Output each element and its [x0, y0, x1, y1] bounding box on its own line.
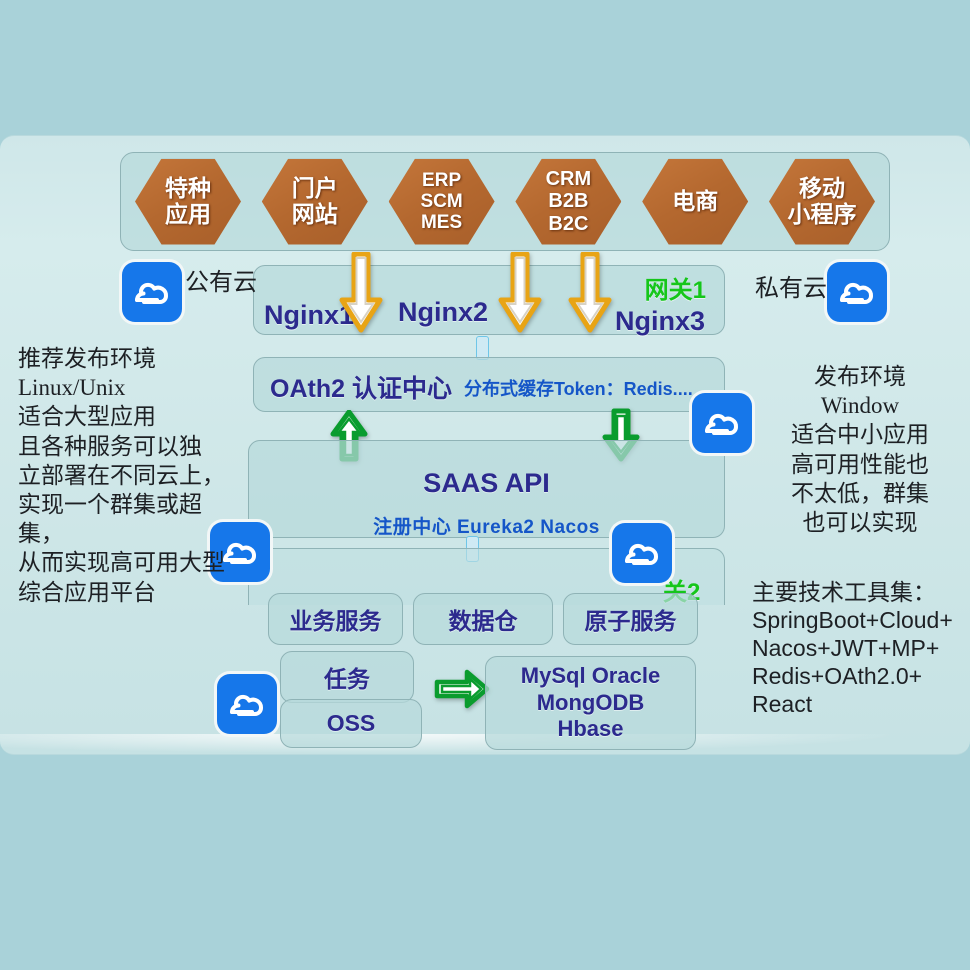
service-label: 数据仓	[449, 602, 518, 636]
nginx2-label: Nginx2	[398, 297, 488, 328]
app-hex-erp[interactable]: ERP SCM MES	[389, 159, 495, 245]
service-label: 原子服务	[585, 602, 677, 636]
app-hex-label: 电商	[672, 189, 718, 215]
auth-title: OAth2 认证中心	[270, 369, 452, 405]
oss-label: OSS	[327, 710, 376, 737]
cloud-icon-saas-right[interactable]	[612, 523, 672, 583]
cloud-icon	[621, 537, 663, 569]
service-box-datawarehouse[interactable]: 数据仓	[413, 593, 553, 645]
app-hex-label: CRM B2B B2C	[546, 168, 592, 235]
app-hex-ecommerce[interactable]: 电商	[642, 159, 748, 245]
note-left: 推荐发布环境 Linux/Unix 适合大型应用 且各种服务可以独 立部署在不同…	[18, 344, 238, 607]
cloud-icon-auth[interactable]	[692, 393, 752, 453]
service-box-business[interactable]: 业务服务	[268, 593, 403, 645]
gateway1-tag: 网关1	[645, 270, 706, 305]
arrow-down-gold-1	[339, 252, 383, 334]
saas-title: SAAS API	[249, 468, 724, 499]
arrow-right-green	[434, 668, 490, 710]
public-cloud-label: 公有云	[185, 262, 257, 297]
cloud-icon	[701, 407, 743, 439]
service-box-atomic[interactable]: 原子服务	[563, 593, 698, 645]
app-hex-label: 特种 应用	[165, 176, 211, 228]
cloud-icon-storage[interactable]	[217, 674, 277, 734]
auth-card: OAth2 认证中心 分布式缓存Token：Redis....	[253, 357, 725, 412]
note-right: 发布环境 Window 适合中小应用 高可用性能也 不太低，群集 也可以实现	[760, 362, 960, 537]
arrow-down-gold-2	[498, 252, 542, 334]
app-hex-label: ERP SCM MES	[420, 170, 462, 234]
cloud-icon-public[interactable]	[122, 262, 182, 322]
task-label: 任务	[324, 660, 370, 694]
oss-box[interactable]: OSS	[280, 699, 422, 748]
application-band: 特种 应用 门户 网站 ERP SCM MES CRM B2B B2C 电商 移…	[120, 152, 890, 251]
database-box[interactable]: MySql Oracle MongODB Hbase	[485, 656, 696, 750]
cloud-icon-private[interactable]	[827, 262, 887, 322]
service-label: 业务服务	[290, 602, 382, 636]
cloud-icon	[226, 688, 268, 720]
auth-subtitle: 分布式缓存Token：Redis....	[464, 375, 693, 401]
app-hex-special[interactable]: 特种 应用	[135, 159, 241, 245]
task-box[interactable]: 任务	[280, 651, 414, 703]
cloud-icon	[836, 276, 878, 308]
database-label: MySql Oracle MongODB Hbase	[521, 663, 660, 742]
gateway1-card: Nginx1 Nginx2 Nginx3 网关1	[253, 265, 725, 335]
diagram-canvas: 特种 应用 门户 网站 ERP SCM MES CRM B2B B2C 电商 移…	[0, 0, 970, 970]
app-hex-label: 移动 小程序	[787, 176, 856, 228]
app-hex-mobile[interactable]: 移动 小程序	[769, 159, 875, 245]
app-hex-label: 门户 网站	[292, 176, 338, 228]
cloud-icon	[131, 276, 173, 308]
private-cloud-label: 私有云	[755, 268, 827, 303]
app-hex-portal[interactable]: 门户 网站	[262, 159, 368, 245]
nginx3-label: Nginx3	[615, 306, 705, 337]
arrow-down-gold-3	[568, 252, 612, 334]
note-tools: 主要技术工具集： SpringBoot+Cloud+ Nacos+JWT+MP+…	[752, 578, 967, 718]
app-hex-crm[interactable]: CRM B2B B2C	[515, 159, 621, 245]
application-hex-row: 特种 应用 门户 网站 ERP SCM MES CRM B2B B2C 电商 移…	[121, 153, 889, 250]
